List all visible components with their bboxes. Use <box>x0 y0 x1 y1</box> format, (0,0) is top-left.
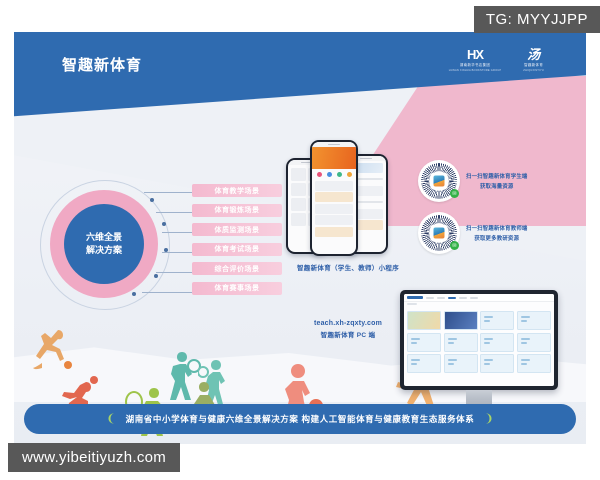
course-card[interactable] <box>517 311 551 330</box>
connector-line <box>156 212 194 213</box>
poster-canvas: 智趣新体育 HX 湖南新华书店集团 HUNAN XINHUA BOOKSTORE… <box>14 32 586 444</box>
scenario-label-teaching[interactable]: 体育教学场景 <box>192 184 282 197</box>
logo-cn-zq: 智趣新体育 <box>524 63 543 67</box>
connector-line <box>156 272 194 273</box>
course-card[interactable] <box>480 354 514 373</box>
qr-caption-student: 扫一扫智趣新体育学生端 获取海量资源 <box>466 172 528 190</box>
course-card[interactable] <box>444 354 478 373</box>
phone-card <box>315 181 353 191</box>
scenario-label-exam[interactable]: 体育考试场景 <box>192 243 282 256</box>
circle-node <box>154 274 158 278</box>
leaf-ornament-right-icon: ❩ <box>484 414 493 425</box>
logo-mark-hx: HX <box>467 48 483 61</box>
swoosh-icon: 汤 <box>527 48 540 61</box>
scenario-label-fitness-monitor[interactable]: 体质监测场景 <box>192 223 282 236</box>
solution-circle-diagram: 六维全景 解决方案 <box>40 180 180 310</box>
leaf-ornament-left-icon: ❨ <box>106 414 115 425</box>
course-card-grid <box>404 308 554 376</box>
circle-node <box>150 198 154 202</box>
monitor-screen <box>404 294 554 386</box>
qr-caption-line1: 扫一扫智趣新体育教师端 <box>466 224 528 232</box>
connector-line <box>162 252 194 253</box>
course-card[interactable] <box>407 354 441 373</box>
pc-url: teach.xh-zqxty.com <box>290 320 406 327</box>
phone-card <box>315 215 353 225</box>
logo-en-hx: HUNAN XINHUA BOOKSTORE GROUP <box>449 69 502 72</box>
wechat-icon: ✉ <box>450 189 459 198</box>
qr-logo <box>431 173 448 190</box>
qr-block-student: ✉ 扫一扫智趣新体育学生端 获取海量资源 <box>418 160 528 202</box>
logo-hunan-xinhua: HX 湖南新华书店集团 HUNAN XINHUA BOOKSTORE GROUP <box>449 48 502 72</box>
telegram-watermark: TG: MYYJJPP <box>474 6 600 33</box>
phone-card <box>315 227 353 237</box>
connector-line <box>144 192 194 193</box>
bottom-banner-text: 湖南省中小学体育与健康六维全景解决方案 构建人工智能体育与健康教育生态服务体系 <box>126 413 475 425</box>
bottom-banner: ❨ 湖南省中小学体育与健康六维全景解决方案 构建人工智能体育与健康教育生态服务体… <box>24 404 576 434</box>
phone-mockups <box>286 136 410 260</box>
phone-card <box>315 204 353 214</box>
qr-caption-teacher: 扫一扫智趣新体育教师端 获取更多教研资源 <box>466 224 528 242</box>
course-card[interactable] <box>480 333 514 352</box>
pc-subcaption: 智趣新体育 PC 端 <box>290 329 406 339</box>
site-navbar <box>404 294 554 302</box>
nav-item[interactable] <box>437 297 445 299</box>
pc-caption: teach.xh-zqxty.com 智趣新体育 PC 端 <box>290 320 406 339</box>
phone-screen-center <box>312 142 356 254</box>
wechat-icon: ✉ <box>450 241 459 250</box>
pc-monitor-mockup <box>400 290 558 408</box>
course-card[interactable] <box>407 311 441 330</box>
page-title: 智趣新体育 <box>62 54 142 75</box>
course-card[interactable] <box>444 333 478 352</box>
nav-item-active[interactable] <box>448 297 456 299</box>
header-logos: HX 湖南新华书店集团 HUNAN XINHUA BOOKSTORE GROUP… <box>449 48 544 72</box>
mobile-caption: 智趣新体育（学生、教师）小程序 <box>280 262 416 272</box>
qr-block-teacher: ✉ 扫一扫智趣新体育教师端 获取更多教研资源 <box>418 212 528 254</box>
connector-line <box>162 232 194 233</box>
qr-code-student[interactable]: ✉ <box>418 160 460 202</box>
course-card[interactable] <box>407 333 441 352</box>
athlete-silhouette-soccer <box>28 328 84 374</box>
qr-caption-line2: 获取更多教研资源 <box>466 234 528 242</box>
monitor-stand <box>466 390 492 404</box>
connector-line <box>142 292 194 293</box>
course-card[interactable] <box>517 354 551 373</box>
nav-item[interactable] <box>470 297 478 299</box>
qr-caption-line2: 获取海量资源 <box>466 182 528 190</box>
logo-cn-hx: 湖南新华书店集团 <box>460 63 490 67</box>
scenario-label-evaluation[interactable]: 综合评价场景 <box>192 262 282 275</box>
qr-caption-line1: 扫一扫智趣新体育学生端 <box>466 172 528 180</box>
course-card[interactable] <box>480 311 514 330</box>
phone-icon-row <box>312 169 356 179</box>
circle-node <box>132 292 136 296</box>
circle-core-line2: 解决方案 <box>86 244 122 257</box>
monitor-bezel <box>400 290 558 390</box>
scenario-label-competition[interactable]: 体育赛事场景 <box>192 282 282 295</box>
circle-node <box>162 222 166 226</box>
course-card[interactable] <box>517 333 551 352</box>
qr-code-teacher[interactable]: ✉ <box>418 212 460 254</box>
phone-hero-banner <box>312 147 356 169</box>
website-watermark: www.yibeitiyuzh.com <box>8 443 180 472</box>
qr-logo <box>431 225 448 242</box>
nav-item[interactable] <box>426 297 434 299</box>
circle-core-line1: 六维全景 <box>86 231 122 244</box>
phone-mockup-center <box>310 140 358 256</box>
scenario-label-list: 体育教学场景 体育锻炼场景 体质监测场景 体育考试场景 综合评价场景 体育赛事场… <box>192 184 282 301</box>
phone-card <box>315 192 353 202</box>
circle-core: 六维全景 解决方案 <box>64 204 144 284</box>
scenario-label-training[interactable]: 体育锻炼场景 <box>192 204 282 217</box>
site-logo <box>407 296 423 299</box>
logo-en-zq: ZHIQUXINTIYU <box>523 69 544 72</box>
course-card[interactable] <box>444 311 478 330</box>
logo-zhiqu-xintiyu: 汤 智趣新体育 ZHIQUXINTIYU <box>523 48 544 72</box>
nav-item[interactable] <box>459 297 467 299</box>
